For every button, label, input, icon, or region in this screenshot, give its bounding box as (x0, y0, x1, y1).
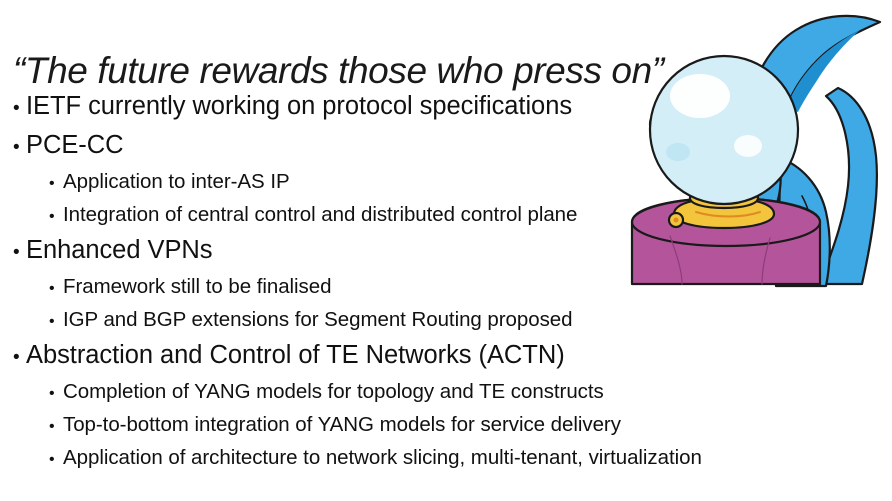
bullet-marker-icon: • (13, 138, 26, 157)
bullet-item-level1: •Abstraction and Control of TE Networks … (0, 341, 892, 380)
bullet-text: Top-to-bottom integration of YANG models… (63, 413, 621, 437)
bullet-marker-icon: • (49, 209, 63, 225)
crystal-ball-highlight-main (670, 74, 730, 118)
bullet-text: IETF currently working on protocol speci… (26, 92, 572, 121)
bullet-text: Enhanced VPNs (26, 236, 212, 265)
wizard-with-crystal-ball-illustration (630, 0, 892, 290)
bullet-item-level2: •IGP and BGP extensions for Segment Rout… (0, 308, 892, 341)
bullet-text: IGP and BGP extensions for Segment Routi… (63, 308, 573, 332)
bullet-item-level2: •Application of architecture to network … (0, 446, 892, 479)
bullet-marker-icon: • (13, 348, 26, 367)
bullet-marker-icon: • (13, 243, 26, 262)
slide-canvas: “The future rewards those who press on” … (0, 0, 892, 501)
bullet-marker-icon: • (49, 419, 63, 435)
bullet-marker-icon: • (49, 452, 63, 468)
bullet-text: Completion of YANG models for topology a… (63, 380, 604, 404)
bullet-text: Application to inter-AS IP (63, 170, 290, 194)
bullet-text: Abstraction and Control of TE Networks (… (26, 341, 565, 370)
bullet-marker-icon: • (49, 281, 63, 297)
bullet-marker-icon: • (49, 386, 63, 402)
bullet-item-level2: •Completion of YANG models for topology … (0, 380, 892, 413)
crystal-ball (650, 56, 798, 204)
bullet-text: Application of architecture to network s… (63, 446, 702, 470)
bullet-marker-icon: • (49, 314, 63, 330)
bullet-marker-icon: • (13, 99, 26, 118)
crystal-ball-highlight-low (666, 143, 690, 161)
crystal-ball-highlight-small (734, 135, 762, 157)
bullet-marker-icon: • (49, 176, 63, 192)
bullet-text: PCE-CC (26, 131, 123, 160)
bullet-text: Framework still to be finalised (63, 275, 331, 299)
bullet-text: Integration of central control and distr… (63, 203, 577, 227)
bullet-item-level2: •Top-to-bottom integration of YANG model… (0, 413, 892, 446)
